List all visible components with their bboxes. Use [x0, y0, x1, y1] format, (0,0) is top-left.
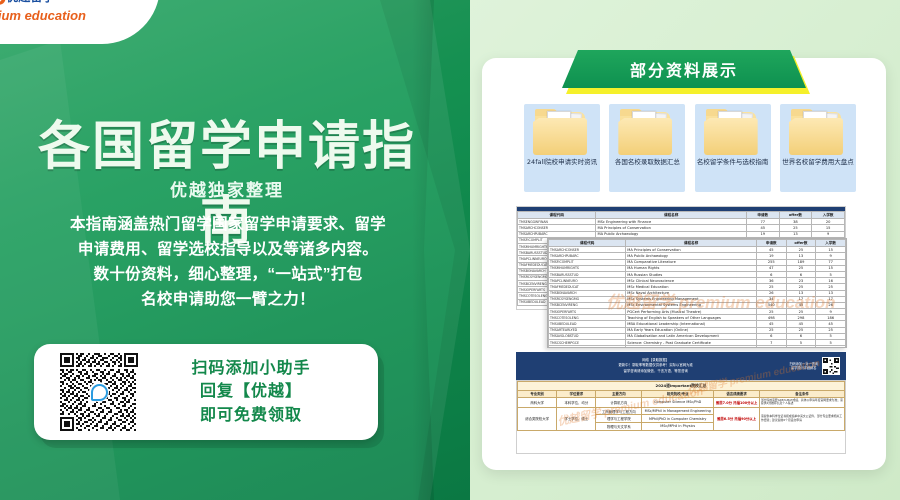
folder-pdf-icon: PDF — [533, 108, 591, 156]
course-stats-table-front: 课程代码课程名称申请数offer数入学数 TMSARCHCONSERMA Pri… — [548, 239, 846, 348]
page-subtitle: 优越独家整理 — [12, 176, 442, 201]
table-row: 商科大学本科学位、均分计算机方向Computer Science MSc/PhD… — [518, 398, 845, 408]
table-cell: 雅思7.0分 托福100分以上 — [714, 398, 760, 408]
banner-ribbon: 部分资料展示 — [562, 50, 806, 88]
poster-root: P 优越留学 remium education 各国留学申请指南 优越独家整理 … — [0, 0, 900, 500]
table-header-cell: 备注条件 — [759, 390, 844, 398]
table-header-row: 课程代码课程名称申请数offer数入学数 — [518, 212, 845, 219]
table-cell: MSc/MPhil in Physics — [642, 422, 714, 430]
table-header-cell: 申请数 — [756, 240, 786, 247]
folder-excel-icon: X — [704, 108, 762, 156]
folder-icon — [618, 108, 676, 156]
contact-banner-cta: 扫码添加一对一咨询 留学顾问详细解答 — [789, 362, 818, 371]
requirements-table: 2024道important院校汇总专业类别学位要求主要方向相关院校/专业语言成… — [517, 381, 845, 431]
table-cell: 本科学位、均分 — [557, 398, 596, 408]
table-row: TMSCENGPGCEEnglish - Post Graduate Certi… — [549, 346, 846, 348]
table-header-cell: 主要方向 — [596, 390, 642, 398]
page-description: 本指南涵盖热门留学国家留学申请要求、留学 申请费用、留学选校指导以及等诸多内容。… — [14, 212, 442, 312]
folder-tile[interactable]: PDF 24fall院校申请实时资讯 — [524, 104, 600, 192]
table-cell: MSc/MPhil in Management Engineering — [642, 407, 714, 415]
requirements-sheet: 2024道important院校汇总专业类别学位要求主要方向相关院校/专业语言成… — [516, 380, 846, 454]
table-header-cell: 申请数 — [746, 212, 779, 219]
table-cell: 雅思6.5分 托福90分以上 — [714, 407, 760, 430]
table-cell: 25 — [756, 346, 786, 348]
table-cell: English - Post Graduate Certificate in E… — [626, 346, 757, 348]
folder-grid: PDF 24fall院校申请实时资讯 各国名校录取数据汇总 X 名校留学条件与选… — [524, 104, 856, 192]
table-header-cell: 入学数 — [816, 240, 846, 247]
table-cell: 需提供本科学位证书和成绩单中英文公证件，部分专业要求相关工作经验；建议提前6个月… — [759, 407, 844, 430]
table-cell: 25 — [816, 346, 846, 348]
table-header-cell: 相关院校/专业 — [642, 390, 714, 398]
table-header-cell: 课程代码 — [549, 240, 626, 247]
folder-tile[interactable]: X 名校留学条件与选校指南 — [695, 104, 771, 192]
table-header-cell: 课程名称 — [626, 240, 757, 247]
wechat-scan-icon — [89, 382, 109, 402]
table-cell: 商科大学 — [518, 398, 557, 408]
description-line: 申请费用、留学选校指导以及等诸多内容。 — [14, 237, 442, 262]
table-cell: TMSCENGPGCE — [549, 346, 626, 348]
table-header-cell: 课程代码 — [518, 212, 596, 219]
folder-label: 世界名校留学费用大盘点 — [782, 158, 854, 166]
folder-tile[interactable]: 各国名校录取数据汇总 — [609, 104, 685, 192]
description-line: 本指南涵盖热门留学国家留学申请要求、留学 — [14, 212, 442, 237]
description-line: 名校申请助您一臂之力！ — [14, 287, 442, 312]
folder-label: 各国名校录取数据汇总 — [611, 158, 683, 166]
table-cell: 学士学位、硕士 — [557, 407, 596, 430]
folder-icon — [789, 108, 847, 156]
table-header-cell: offer数 — [786, 240, 816, 247]
logo-chinese-name: 优越留学 — [6, 0, 54, 3]
table-header-cell: 入学数 — [812, 212, 845, 219]
table-header-cell: 专业类别 — [518, 390, 557, 398]
folder-tile[interactable]: 世界名校留学费用大盘点 — [780, 104, 856, 192]
qr-cta-line: 扫码添加小助手 — [138, 357, 364, 380]
table-cell: 25 — [786, 346, 816, 348]
table-header-row: 课程代码课程名称申请数offer数入学数 — [549, 240, 846, 247]
table-cell: Computer Science MSc/PhD — [642, 398, 714, 408]
contact-cta-line: 留学顾问详细解答 — [789, 366, 818, 370]
contact-line: 留学咨询请添加微信，千言万语，等您咨询 — [522, 369, 789, 374]
qr-cta-text: 扫码添加小助手 回复【优越】 即可免费领取 — [138, 357, 378, 427]
table-header-cell: 课程名称 — [596, 212, 746, 219]
qr-code-icon[interactable] — [822, 357, 840, 375]
banner-title: 部分资料展示 — [630, 57, 738, 81]
brand-logo: P 优越留学 remium education — [0, 0, 138, 26]
table-header-row: 专业类别学位要求主要方向相关院校/专业语言成绩要求备注条件 — [518, 390, 845, 398]
table-title-cell: 2024道important院校汇总 — [518, 382, 845, 391]
qr-card[interactable]: 扫码添加小助手 回复【优越】 即可免费领取 — [34, 344, 378, 440]
table-header-cell: offer数 — [779, 212, 812, 219]
table-cell: 物理与天文学系 — [596, 422, 642, 430]
spreadsheet-front: 课程代码课程名称申请数offer数入学数 TMSARCHCONSERMA Pri… — [547, 238, 847, 348]
table-cell: 工商管理学与工程方向 — [596, 407, 642, 415]
table-header-cell: 学位要求 — [557, 390, 596, 398]
table-cell: 综合类院校大学 — [518, 407, 557, 430]
table-title-row: 2024道important院校汇总 — [518, 382, 845, 391]
table-row: 综合类院校大学学士学位、硕士工商管理学与工程方向MSc/MPhil in Man… — [518, 407, 845, 415]
table-cell: 部分院校需要GRE/GMAT成绩，具体以申请年度官网要求为准；需提供2封推荐信及… — [759, 398, 844, 408]
folder-label: 24fall院校申请实时资讯 — [526, 158, 598, 166]
folder-label: 名校留学条件与选校指南 — [697, 158, 769, 166]
table-header-cell: 语言成绩要求 — [714, 390, 760, 398]
qr-cta-line: 回复【优越】 — [138, 380, 364, 403]
table-cell: MPhil/PhD in Computer Chemistry — [642, 415, 714, 423]
table-cell: 理学与工程学院 — [596, 415, 642, 423]
qr-cta-line: 即可免费领取 — [138, 404, 364, 427]
qr-code-icon[interactable] — [60, 353, 138, 431]
contact-banner-text: 网络【录取数据】 更新中！录取率等数据仅供参考！实际以官网为准 留学咨询请添加微… — [522, 358, 789, 373]
logo-english-name: remium education — [0, 9, 86, 22]
table-cell: 计算机方向 — [596, 398, 642, 408]
description-line: 数十份资料，细心整理，“一站式”打包 — [14, 262, 442, 287]
contact-banner: 网络【录取数据】 更新中！录取率等数据仅供参考！实际以官网为准 留学咨询请添加微… — [516, 352, 846, 380]
section-banner: 部分资料展示 — [562, 50, 806, 90]
